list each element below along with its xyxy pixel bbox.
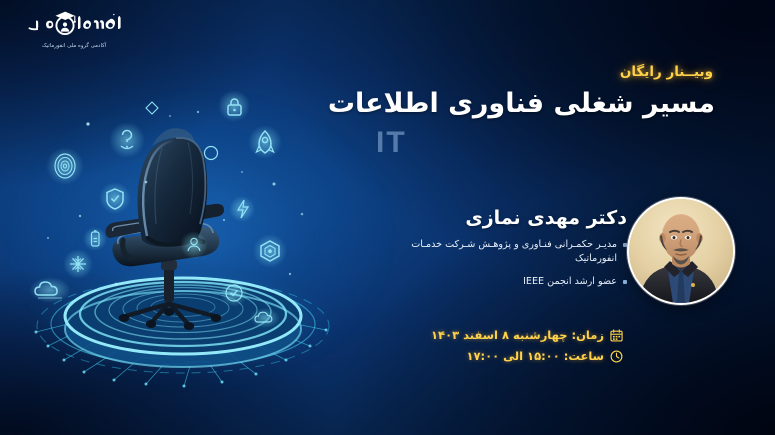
- webinar-banner: آکادمی گروه ملی انفورماتیک: [0, 0, 775, 435]
- list-item: مدیـر حکمـرانی فنـاوری و پژوهـش شـرکت خد…: [389, 238, 627, 266]
- schedule-time-text: ساعت: ۱۵:۰۰ الی ۱۷:۰۰: [466, 349, 604, 363]
- calendar-icon: [610, 329, 623, 342]
- brand-subtitle: آکادمی گروه ملی انفورماتیک: [14, 43, 134, 49]
- speaker-credentials: مدیـر حکمـرانی فنـاوری و پژوهـش شـرکت خد…: [389, 238, 627, 298]
- brand-logo[interactable]: آکادمی گروه ملی انفورماتیک: [14, 6, 134, 58]
- schedule-row-date: زمان: چهارشنبه ۸ اسفند ۱۴۰۳: [431, 328, 623, 342]
- avatar: [627, 197, 735, 305]
- graduation-cap-icon: [14, 6, 134, 42]
- kicker-label: وبیــنار رایگان: [620, 64, 713, 80]
- chair-illustration: [18, 88, 348, 388]
- it-watermark: IT: [376, 126, 407, 160]
- schedule-date-text: زمان: چهارشنبه ۸ اسفند ۱۴۰۳: [431, 328, 604, 342]
- bullet-marker-icon: [623, 280, 627, 284]
- speaker-name: دکتر مهدی نمازی: [465, 207, 627, 229]
- schedule-row-time: ساعت: ۱۵:۰۰ الی ۱۷:۰۰: [431, 349, 623, 363]
- schedule-info: زمان: چهارشنبه ۸ اسفند ۱۴۰۳ ساعت: ۱۵:۰۰ …: [431, 328, 623, 370]
- credential-text: مدیـر حکمـرانی فنـاوری و پژوهـش شـرکت خد…: [389, 238, 617, 266]
- credential-text: عضو ارشد انجمن IEEE: [389, 275, 617, 289]
- list-item: عضو ارشد انجمن IEEE: [389, 275, 627, 289]
- page-title: مسیر شغلی فناوری اطلاعات: [328, 88, 715, 119]
- clock-icon: [610, 350, 623, 363]
